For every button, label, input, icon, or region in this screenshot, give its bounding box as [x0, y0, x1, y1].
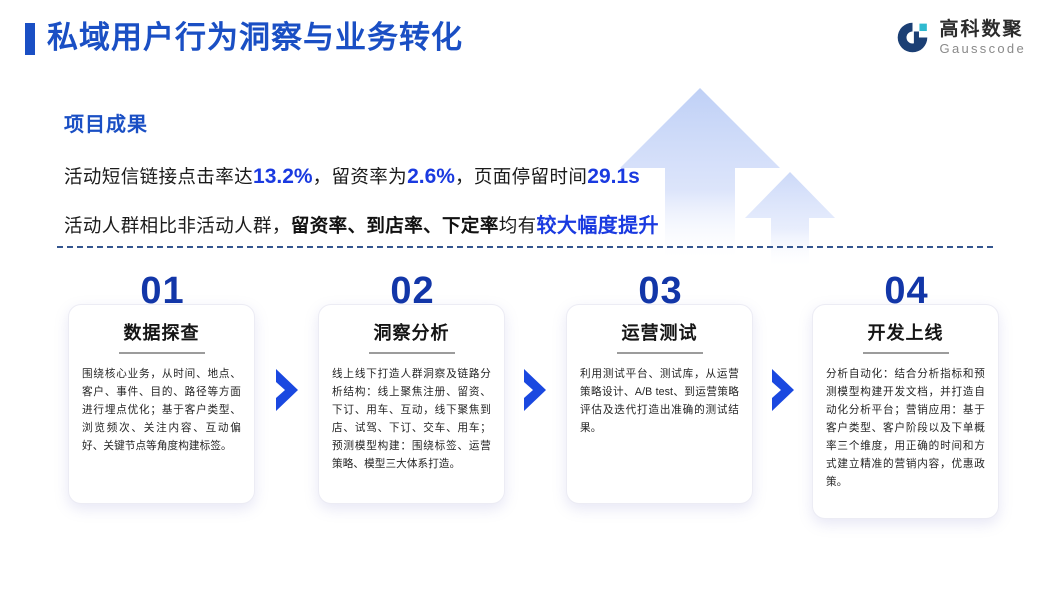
step-title-4: 开发上线: [826, 319, 985, 345]
results-block: 项目成果 活动短信链接点击率达13.2%，留资率为2.6%，页面停留时间29.1…: [64, 108, 659, 258]
step-rule-4: [863, 352, 949, 354]
chevron-right-icon: [768, 368, 798, 412]
step-body-2: 线上线下打造人群洞察及链路分析结构：线上聚焦注册、留资、下订、用车、互动，线下聚…: [332, 365, 491, 473]
slide-root: 私域用户行为洞察与业务转化 高科数聚 Gausscode 项目成果 活动短信链接…: [0, 0, 1048, 591]
step-rule-2: [369, 352, 455, 354]
results-line-1: 活动短信链接点击率达13.2%，留资率为2.6%，页面停留时间29.1s: [64, 163, 659, 189]
gausscode-logo-icon: [894, 19, 931, 56]
process-steps: 01 数据探查 围绕核心业务，从时间、地点、客户、事件、目的、路径等方面进行埋点…: [0, 272, 1048, 542]
line2-highlight: 较大幅度提升: [537, 215, 659, 237]
title-accent-bar: [25, 23, 35, 55]
step-body-3: 利用测试平台、测试库，从运营策略设计、A/B test、到运营策略评估及迭代打造…: [580, 365, 739, 437]
line2-text-1: 活动人群相比非活动人群，: [64, 215, 291, 236]
line1-text-3: ，页面停留时间: [455, 166, 587, 187]
step-title-3: 运营测试: [580, 319, 739, 345]
step-rule-1: [119, 352, 205, 354]
section-divider: [57, 246, 993, 248]
brand-logo: 高科数聚 Gausscode: [894, 19, 1026, 56]
step-card-3[interactable]: 03 运营测试 利用测试平台、测试库，从运营策略设计、A/B test、到运营策…: [566, 304, 753, 504]
step-number-1: 01: [69, 271, 256, 311]
chevron-right-icon: [520, 368, 550, 412]
step-card-4[interactable]: 04 开发上线 分析自动化：结合分析指标和预测模型构建开发文档，并打造自动化分析…: [812, 304, 999, 519]
chevron-right-icon: [272, 368, 302, 412]
up-arrow-icon: [745, 172, 835, 267]
step-rule-3: [617, 352, 703, 354]
results-heading: 项目成果: [64, 108, 659, 137]
logo-name-en: Gausscode: [940, 42, 1026, 55]
slide-header: 私域用户行为洞察与业务转化 高科数聚 Gausscode: [0, 0, 1048, 78]
metric-lead-rate: 2.6%: [407, 165, 455, 188]
line1-text-1: 活动短信链接点击率达: [64, 166, 253, 187]
line2-bold-metrics: 留资率、到店率、下定率: [291, 215, 499, 236]
logo-name-cn: 高科数聚: [940, 20, 1026, 39]
metric-dwell-time: 29.1s: [587, 165, 640, 188]
results-line-2: 活动人群相比非活动人群，留资率、到店率、下定率均有较大幅度提升: [64, 209, 659, 238]
step-body-1: 围绕核心业务，从时间、地点、客户、事件、目的、路径等方面进行埋点优化；基于客户类…: [82, 365, 241, 455]
line1-text-2: ，留资率为: [313, 166, 408, 187]
step-title-1: 数据探查: [82, 319, 241, 345]
metric-click-rate: 13.2%: [253, 165, 313, 188]
page-title: 私域用户行为洞察与业务转化: [47, 18, 463, 58]
step-card-1[interactable]: 01 数据探查 围绕核心业务，从时间、地点、客户、事件、目的、路径等方面进行埋点…: [68, 304, 255, 504]
step-number-4: 04: [813, 271, 1000, 311]
step-title-2: 洞察分析: [332, 319, 491, 345]
line2-text-2: 均有: [499, 215, 537, 236]
step-number-2: 02: [319, 271, 506, 311]
step-number-3: 03: [567, 271, 754, 311]
step-card-2[interactable]: 02 洞察分析 线上线下打造人群洞察及链路分析结构：线上聚焦注册、留资、下订、用…: [318, 304, 505, 504]
step-body-4: 分析自动化：结合分析指标和预测模型构建开发文档，并打造自动化分析平台；营销应用：…: [826, 365, 985, 491]
